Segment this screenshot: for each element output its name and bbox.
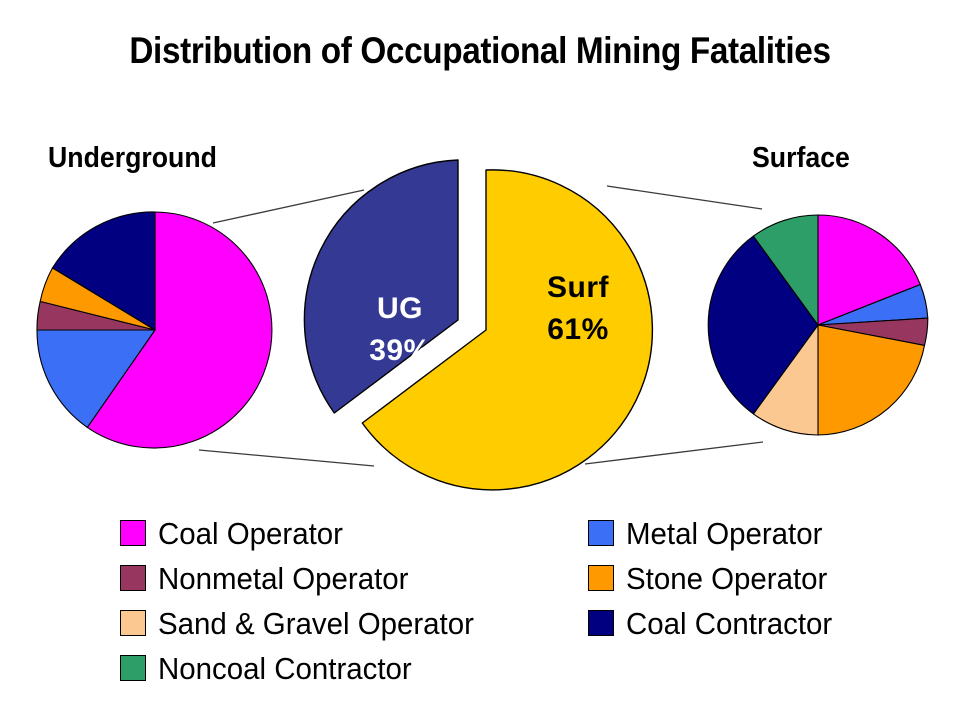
legend-label-coal-operator: Coal Operator (158, 518, 343, 549)
legend-swatch-coal-contractor (588, 610, 614, 636)
legend-column-right: Metal Operator Stone Operator Coal Contr… (588, 512, 948, 689)
chart-legend: Coal Operator Nonmetal Operator Sand & G… (120, 512, 950, 689)
legend-item-sand-gravel-operator[interactable]: Sand & Gravel Operator (120, 602, 550, 644)
legend-column-left: Coal Operator Nonmetal Operator Sand & G… (120, 512, 550, 689)
surf-label-line2: 61% (547, 313, 609, 346)
connector-surf-top (607, 186, 762, 209)
ug-label-line2: 39% (369, 334, 431, 367)
legend-label-coal-contractor: Coal Contractor (626, 608, 832, 639)
legend-item-stone-operator[interactable]: Stone Operator (588, 557, 948, 599)
connector-ug-bottom (199, 450, 374, 466)
legend-label-noncoal-contractor: Noncoal Contractor (158, 653, 412, 684)
legend-label-metal-operator: Metal Operator (626, 518, 822, 549)
legend-item-metal-operator[interactable]: Metal Operator (588, 512, 948, 554)
overall-split-pie: UG 39% Surf 61% (304, 160, 652, 490)
underground-pie (37, 212, 272, 448)
surf-label-line1: Surf (547, 271, 610, 304)
surface-pie (708, 215, 928, 435)
legend-swatch-coal-operator (120, 520, 146, 546)
ug-label-line1: UG (377, 292, 423, 325)
legend-swatch-stone-operator (588, 565, 614, 591)
legend-label-stone-operator: Stone Operator (626, 563, 827, 594)
legend-item-nonmetal-operator[interactable]: Nonmetal Operator (120, 557, 550, 599)
connector-surf-bottom (585, 442, 763, 464)
chart-canvas: Distribution of Occupational Mining Fata… (0, 0, 960, 720)
legend-swatch-metal-operator (588, 520, 614, 546)
legend-item-coal-operator[interactable]: Coal Operator (120, 512, 550, 554)
legend-item-coal-contractor[interactable]: Coal Contractor (588, 602, 948, 644)
legend-swatch-nonmetal-operator (120, 565, 146, 591)
legend-label-nonmetal-operator: Nonmetal Operator (158, 563, 408, 594)
legend-label-sand-gravel-operator: Sand & Gravel Operator (158, 608, 474, 639)
legend-swatch-noncoal-contractor (120, 655, 146, 681)
legend-item-noncoal-contractor[interactable]: Noncoal Contractor (120, 647, 550, 689)
legend-swatch-sand-gravel-operator (120, 610, 146, 636)
